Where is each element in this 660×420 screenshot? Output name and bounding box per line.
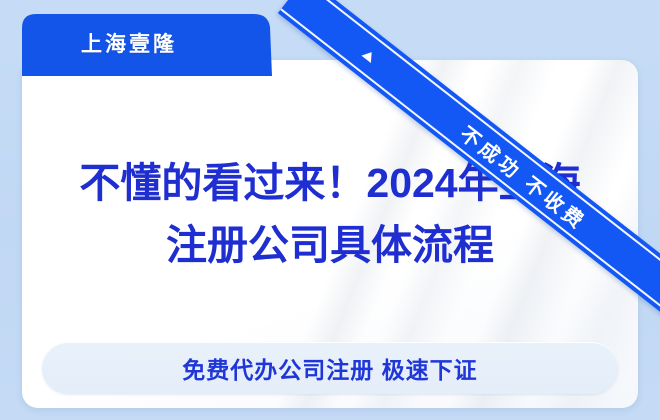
promo-banner-label: 免费代办公司注册 极速下证 — [182, 351, 477, 385]
poster-canvas: 上海壹隆 不懂的看过来！2024年上海 注册公司具体流程 免费代办公司注册 极速… — [0, 0, 660, 420]
tab-label: 上海壹隆 — [22, 14, 236, 72]
content-card: 不懂的看过来！2024年上海 注册公司具体流程 免费代办公司注册 极速下证 — [22, 60, 638, 408]
brand-tab: 上海壹隆 — [22, 14, 272, 76]
page-title: 不懂的看过来！2024年上海 注册公司具体流程 — [22, 152, 638, 277]
title-line-2: 注册公司具体流程 — [22, 214, 638, 276]
promo-banner[interactable]: 免费代办公司注册 极速下证 — [42, 342, 618, 394]
title-line-1: 不懂的看过来！2024年上海 — [22, 152, 638, 214]
